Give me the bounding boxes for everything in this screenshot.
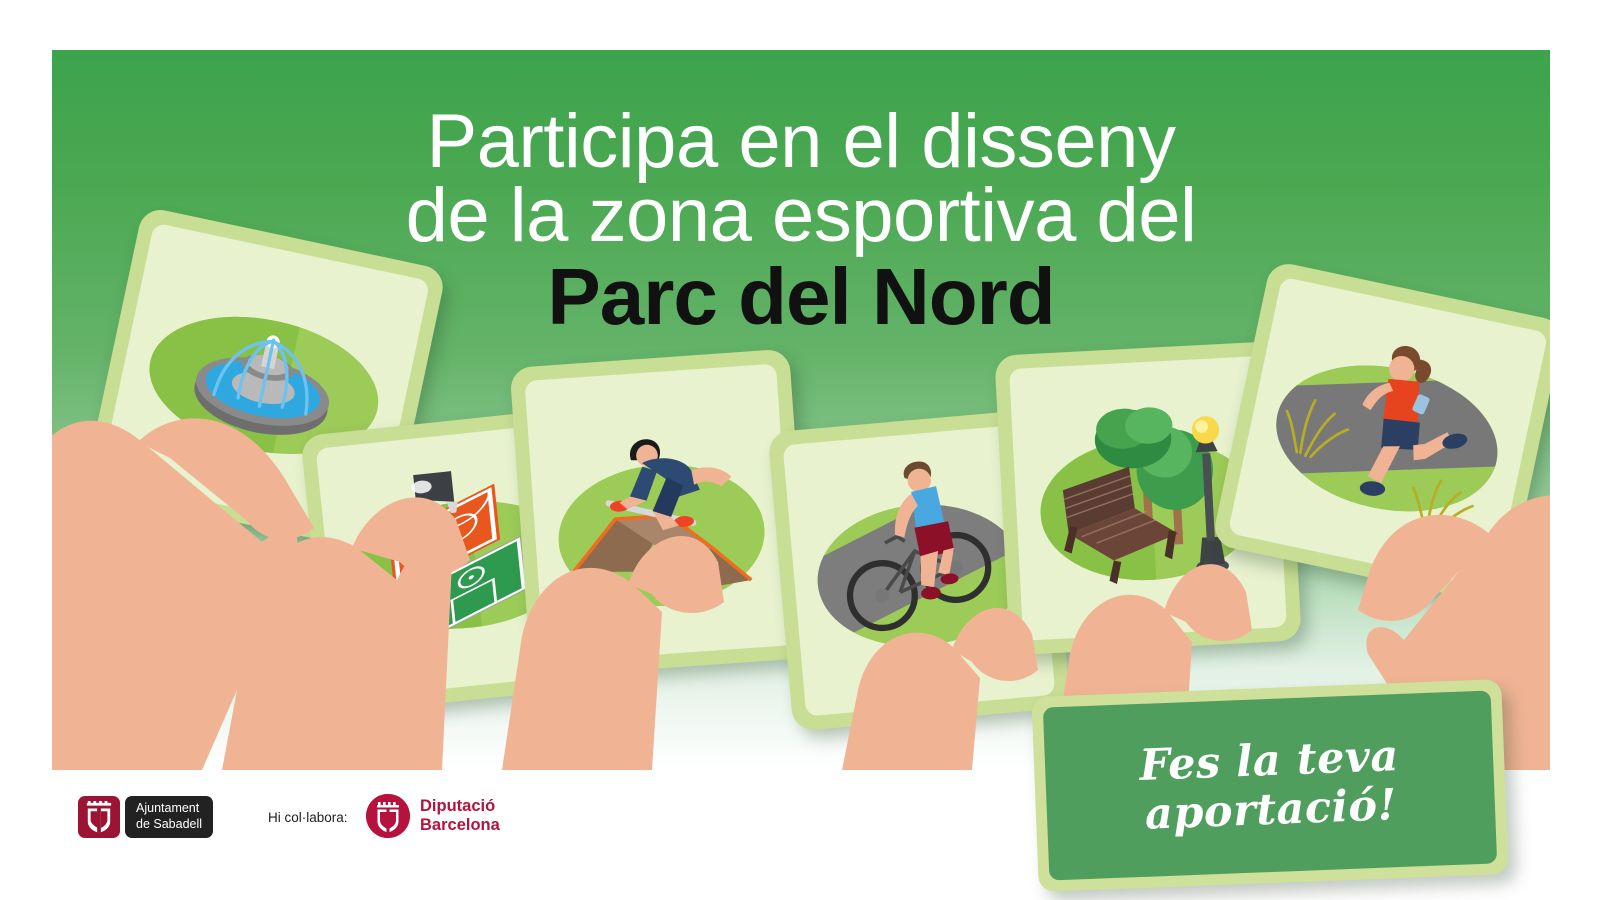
diputacio-seal-icon [366,794,410,838]
sabadell-line-1: Ajuntament [136,801,202,817]
diputacio-line-2: Barcelona [420,816,500,835]
sabadell-nameplate: Ajuntament de Sabadell [125,796,213,838]
ajuntament-sabadell-logo[interactable]: Ajuntament de Sabadell [78,796,213,838]
sabadell-shield-icon [85,801,113,833]
diputacio-crest-icon [366,794,410,838]
poster-canvas: Participa en el disseny de la zona espor… [0,0,1600,900]
diputacio-wordmark: Diputació Barcelona [420,797,500,836]
hands-group [52,50,1550,770]
diputacio-line-1: Diputació [420,797,500,816]
hand-mid [502,568,662,770]
collaborator-label: Hi col·labora: [268,810,348,825]
footer-logos: Ajuntament de Sabadell Hi col·labora: [0,780,1600,860]
hero-panel: Participa en el disseny de la zona espor… [52,50,1550,770]
diputacio-barcelona-logo[interactable]: Diputació Barcelona [366,794,500,838]
sabadell-line-2: de Sabadell [136,817,202,833]
sabadell-crest-icon [78,796,120,838]
